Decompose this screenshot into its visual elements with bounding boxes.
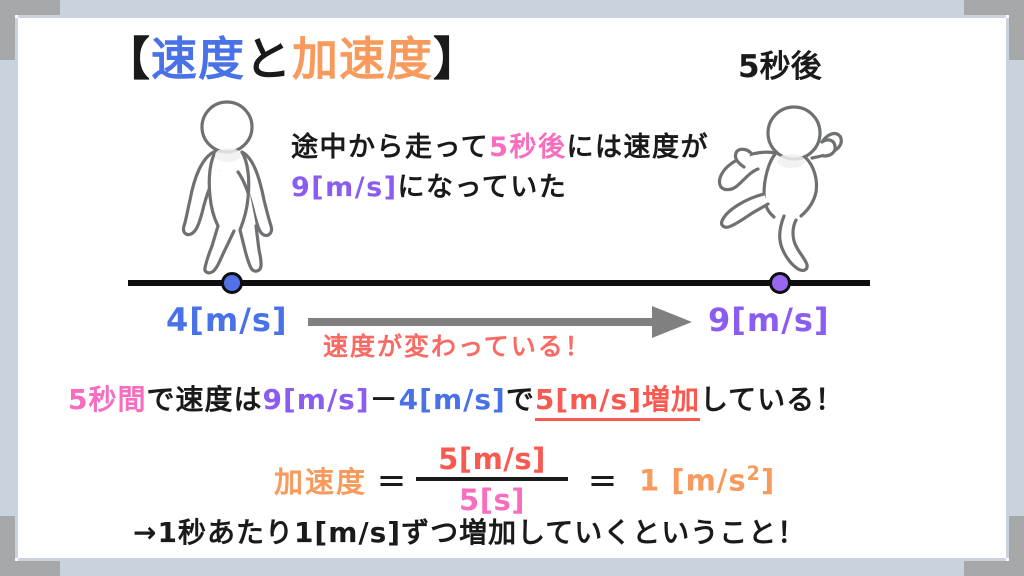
title-bracket-open: 【 (104, 32, 151, 86)
formula-equals-sign-2: ＝ (588, 459, 617, 501)
formula-result-value: 1 [m/s (639, 464, 747, 498)
corner-bracket-bottom-right (1009, 516, 1024, 576)
velocity-label-start: 4[m/s] (166, 304, 288, 336)
corner-bracket-bottom-left (0, 516, 15, 576)
formula-label-acceleration: 加速度 (274, 459, 367, 501)
caption-9-mps: 9[m/s] (291, 172, 398, 203)
formula-result-exponent: 2 (747, 462, 761, 485)
number-line-dot-start (221, 272, 243, 294)
eq-5-seconds: 5秒間 (68, 383, 146, 416)
caption-segment-1: 途中から走って (291, 132, 489, 163)
velocity-difference-sentence: 5秒間で速度は9[m/s]－4[m/s]で5[m/s]増加している！ (68, 386, 844, 414)
frame-border-top (18, 0, 1006, 18)
corner-bracket-top-right (1009, 0, 1024, 60)
formula-numerator: 5[m/s] (430, 443, 554, 477)
velocity-label-end: 9[m/s] (708, 304, 830, 336)
eq-segment-6: で (506, 383, 535, 416)
eq-4-mps: 4[m/s] (399, 383, 506, 416)
arrow-caption: 速度が変わっている！ (323, 334, 592, 359)
title-bracket-close: 】 (433, 32, 480, 86)
slide-canvas: 【速度と加速度】 5秒後 途中から走って5秒後には速度が9[m/s]になっていた (0, 0, 1024, 576)
acceleration-formula: 加速度 ＝ 5[m/s] 5[s] ＝ 1 [m/s2] (274, 443, 775, 517)
running-person-icon (706, 100, 856, 275)
caption-segment-5: になっていた (398, 172, 568, 203)
frame-border-bottom (18, 558, 1006, 576)
title-word-velocity: 速度 (151, 32, 245, 86)
corner-bracket-top-left (0, 0, 15, 60)
formula-result-close: ] (761, 464, 775, 498)
caption-segment-3: には速度が (566, 132, 709, 163)
after-5-seconds-label: 5秒後 (738, 52, 822, 83)
formula-result: 1 [m/s2] (639, 462, 775, 498)
title-conjunction: と (245, 32, 292, 86)
caption-5-seconds: 5秒後 (489, 132, 566, 163)
eq-minus-sign: － (370, 383, 399, 416)
formula-denominator: 5[s] (451, 481, 533, 516)
title-word-acceleration: 加速度 (292, 32, 433, 86)
formula-fraction: 5[m/s] 5[s] (416, 443, 568, 517)
page-title: 【速度と加速度】 (104, 36, 480, 82)
eq-increase-highlight: 5[m/s]増加 (535, 383, 700, 421)
eq-9-mps: 9[m/s] (263, 383, 370, 416)
walking-person-icon (172, 100, 292, 275)
frame-border-left (0, 18, 18, 558)
formula-equals-sign-1: ＝ (377, 459, 406, 501)
eq-segment-2: で速度は (146, 383, 262, 416)
eq-segment-8: している！ (700, 383, 844, 416)
conclusion-text: →1秒あたり1[m/s]ずつ増加していくということ！ (133, 519, 806, 547)
caption-text: 途中から走って5秒後には速度が9[m/s]になっていた (291, 128, 721, 208)
number-line-dot-end (769, 272, 791, 294)
frame-border-right (1006, 18, 1024, 558)
